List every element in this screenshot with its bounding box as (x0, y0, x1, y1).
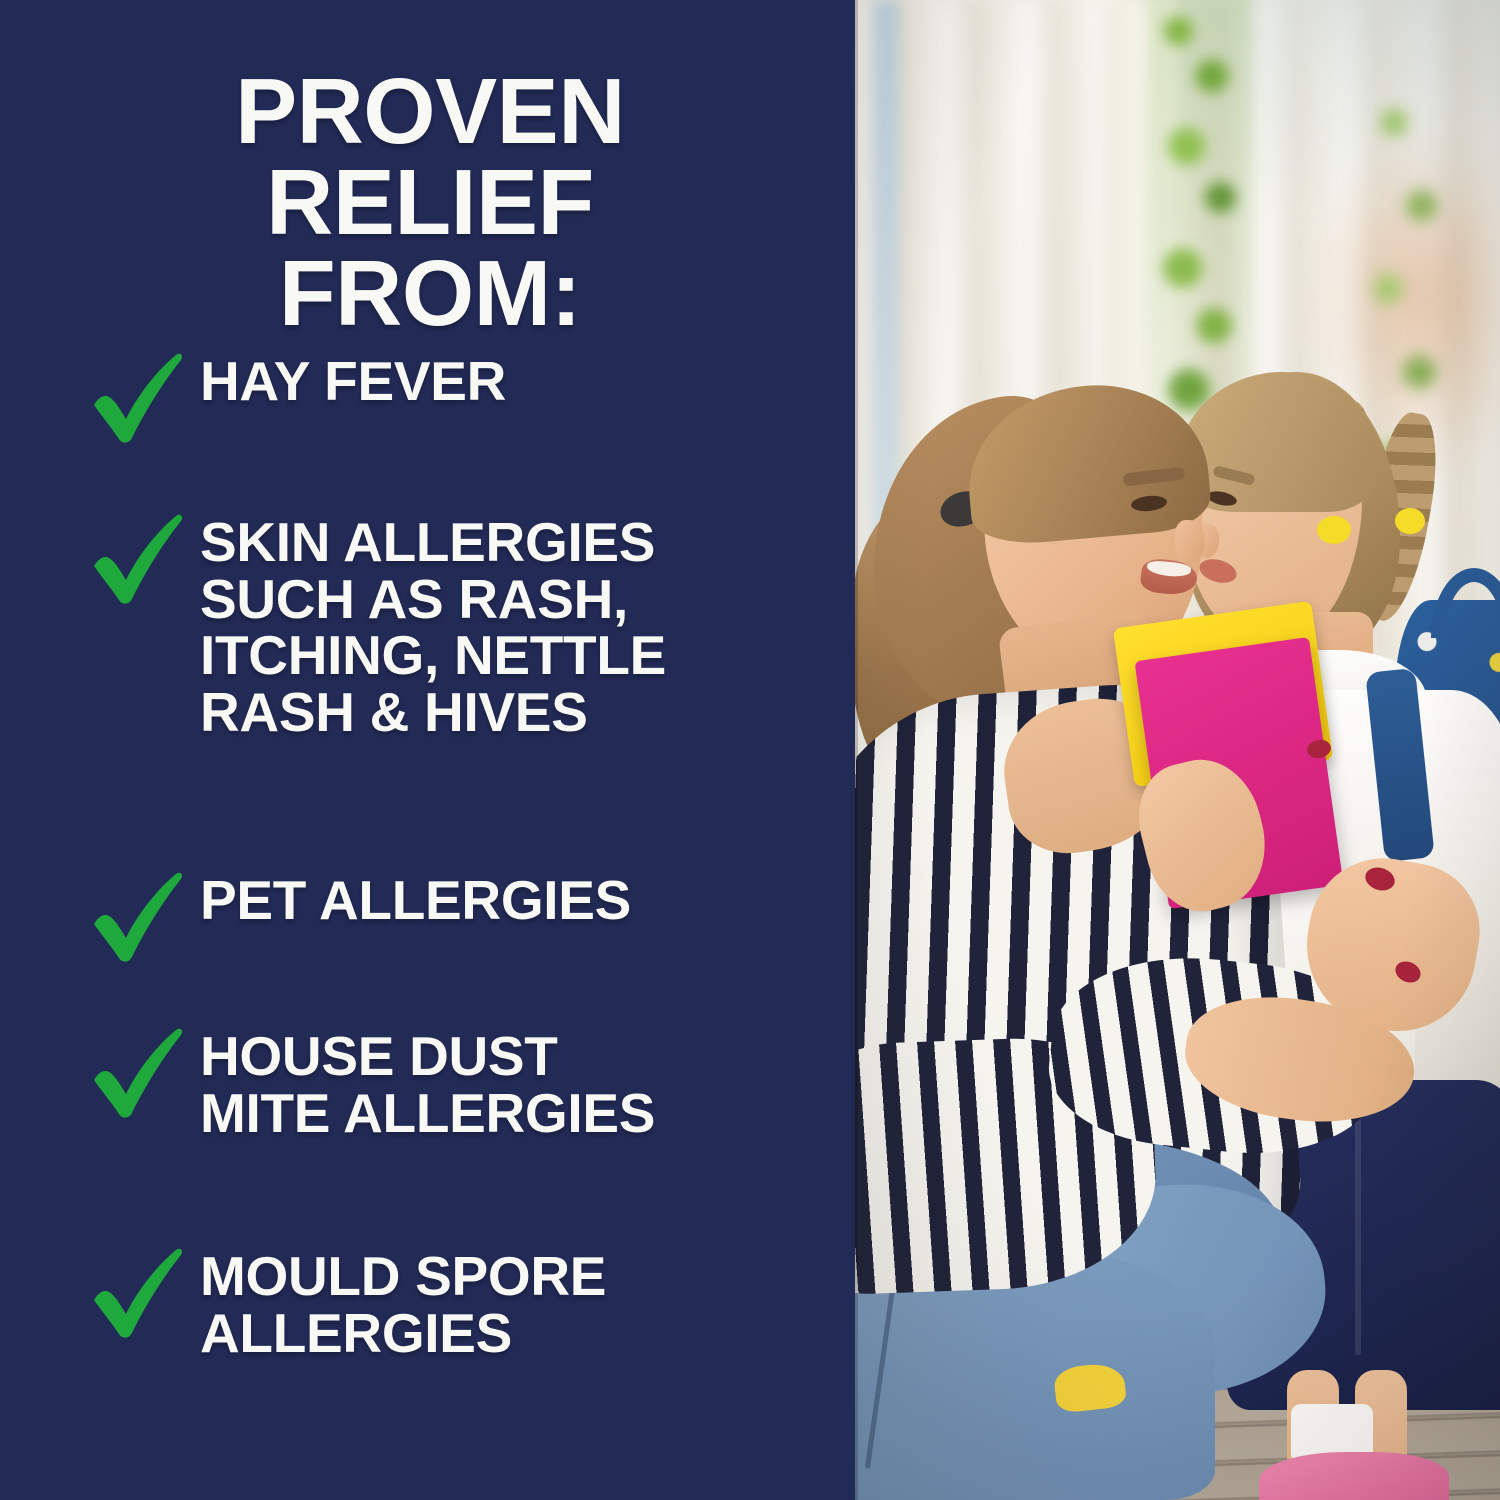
green-check-icon (88, 1244, 200, 1340)
list-item: MOULD SPORE ALLERGIES (88, 1242, 828, 1361)
list-item: HAY FEVER (88, 347, 828, 445)
headline-line-2: FROM: (60, 248, 800, 339)
list-item-label: HOUSE DUST MITE ALLERGIES (200, 1022, 655, 1141)
advertisement-banner: PROVEN RELIEF FROM: HAY FEVER (0, 0, 1500, 1500)
skirt-pleat (1355, 1085, 1361, 1355)
panel-divider (855, 0, 858, 1500)
green-check-icon (88, 510, 200, 606)
yellow-hair-tie (1395, 508, 1425, 534)
woman-nose (1175, 520, 1205, 562)
list-item-label: MOULD SPORE ALLERGIES (200, 1242, 606, 1361)
list-item-label: SKIN ALLERGIES SUCH AS RASH, ITCHING, NE… (200, 508, 666, 741)
benefits-panel: PROVEN RELIEF FROM: HAY FEVER (0, 0, 855, 1500)
page-title: PROVEN RELIEF FROM: (60, 66, 800, 339)
green-check-icon (88, 1024, 200, 1120)
green-check-icon (88, 868, 200, 964)
list-item: PET ALLERGIES (88, 866, 828, 964)
pink-sneaker (1259, 1452, 1449, 1500)
list-item: SKIN ALLERGIES SUCH AS RASH, ITCHING, NE… (88, 508, 828, 741)
headline-line-1: PROVEN RELIEF (60, 66, 800, 248)
list-item-label: HAY FEVER (200, 347, 506, 410)
list-item: HOUSE DUST MITE ALLERGIES (88, 1022, 828, 1141)
lifestyle-photo (855, 0, 1500, 1500)
green-check-icon (88, 349, 200, 445)
yellow-hair-tie (1317, 516, 1351, 544)
photo-canvas (855, 0, 1500, 1500)
list-item-label: PET ALLERGIES (200, 866, 631, 929)
